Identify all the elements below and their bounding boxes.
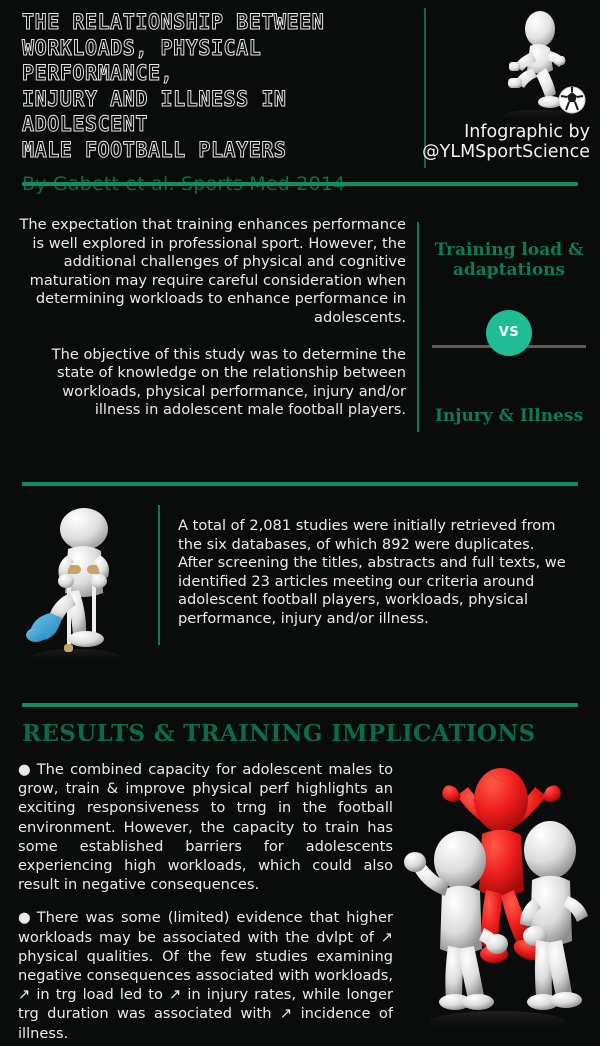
- intro-paragraph-2: The objective of this study was to deter…: [14, 346, 406, 420]
- intro-vertical-divider: [417, 222, 419, 432]
- section-divider-2: [22, 482, 578, 486]
- infographic-page: THE RELATIONSHIP BETWEEN WORKLOADS, PHYS…: [0, 0, 600, 1046]
- versus-bottom-label: Injury & Illness: [424, 406, 594, 426]
- bullet-dot-icon: ●: [18, 760, 31, 779]
- section-divider-1: [22, 182, 578, 186]
- results-section: RESULTS & TRAINING IMPLICATIONS ●The com…: [0, 712, 600, 1046]
- results-bullet-list: ●The combined capacity for adolescent ma…: [18, 760, 393, 1046]
- intro-paragraphs: The expectation that training enhances p…: [14, 216, 406, 438]
- versus-badge: VS: [486, 310, 532, 356]
- intro-paragraph-1: The expectation that training enhances p…: [14, 216, 406, 328]
- bullet-text: There was some (limited) evidence that h…: [18, 909, 393, 1041]
- list-item: ●The combined capacity for adolescent ma…: [18, 760, 393, 894]
- section-divider-3: [22, 703, 578, 707]
- versus-middle: VS: [424, 302, 594, 388]
- bullet-text: The combined capacity for adolescent mal…: [18, 761, 393, 893]
- methods-paragraph: A total of 2,081 studies were initially …: [178, 517, 570, 629]
- running-footballer-icon: [478, 8, 588, 123]
- injured-person-crutches-icon: [14, 497, 144, 677]
- title-block: THE RELATIONSHIP BETWEEN WORKLOADS, PHYS…: [22, 10, 422, 195]
- celebrating-team-figures-icon: [398, 750, 598, 1040]
- methods-section: A total of 2,081 studies were initially …: [0, 495, 600, 695]
- page-title: THE RELATIONSHIP BETWEEN WORKLOADS, PHYS…: [22, 10, 394, 163]
- list-item: ●There was some (limited) evidence that …: [18, 908, 393, 1042]
- methods-vertical-divider: [158, 505, 160, 645]
- intro-section: The expectation that training enhances p…: [0, 196, 600, 476]
- versus-top-label: Training load & adaptations: [424, 240, 594, 280]
- versus-panel: Training load & adaptations VS Injury & …: [424, 240, 594, 426]
- credit-text: Infographic by @YLMSportScience: [410, 122, 590, 162]
- results-heading: RESULTS & TRAINING IMPLICATIONS: [22, 720, 536, 747]
- bullet-dot-icon: ●: [18, 908, 31, 927]
- header: THE RELATIONSHIP BETWEEN WORKLOADS, PHYS…: [0, 0, 600, 176]
